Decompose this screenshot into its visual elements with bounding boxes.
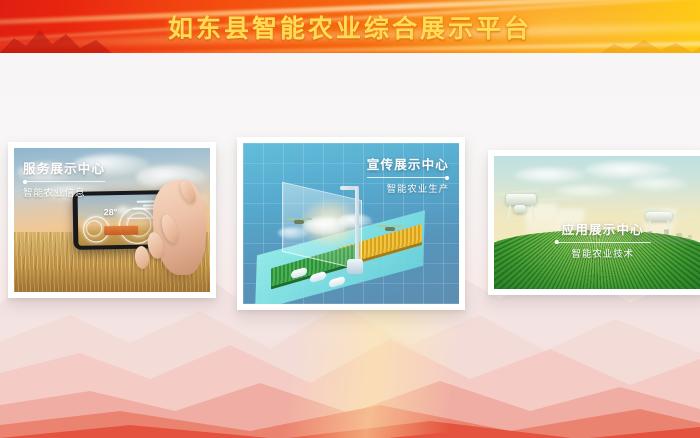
panel-application-title: 应用展示中心 [555,219,651,238]
panel-application-display[interactable]: 应用展示中心 智能农业技术 [488,150,700,295]
hand-holding-phone [153,180,206,275]
caption-rule [367,177,449,178]
hud-chip-icon [104,226,138,236]
panel-service-subtitle: 智能农业信息 [23,185,105,199]
drone-icon [379,224,401,233]
water-tank-icon [347,259,363,274]
page-title: 如东县智能农业综合展示平台 [0,0,700,53]
panel-service-caption: 服务展示中心 智能农业信息 [23,158,105,199]
cloud-icon [515,167,585,183]
panel-promotion-inner: 宣传展示中心 智能农业生产 [243,143,459,304]
header-banner: 如东县智能农业综合展示平台 [0,0,700,53]
panel-promotion-title: 宣传展示中心 [367,154,449,173]
panel-promotion-caption: 宣传展示中心 智能农业生产 [367,154,449,195]
panel-application-inner: 应用展示中心 智能农业技术 [494,156,700,289]
panel-service-title: 服务展示中心 [23,158,105,177]
caption-rule [23,181,105,182]
panel-service-inner: 28° 服务展示中心 智能农业信息 [14,148,210,292]
panel-promotion-subtitle: 智能农业生产 [367,181,449,195]
panel-promotion-display[interactable]: 宣传展示中心 智能农业生产 [237,137,465,310]
caption-rule [555,242,651,243]
irrigation-pole [355,186,359,262]
panel-service-display[interactable]: 28° 服务展示中心 智能农业信息 [8,142,216,298]
panel-application-caption: 应用展示中心 智能农业技术 [555,219,651,260]
poster-stage: 如东县智能农业综合展示平台 [0,0,700,438]
panel-application-subtitle: 智能农业技术 [555,246,651,260]
drone-icon [288,217,310,226]
